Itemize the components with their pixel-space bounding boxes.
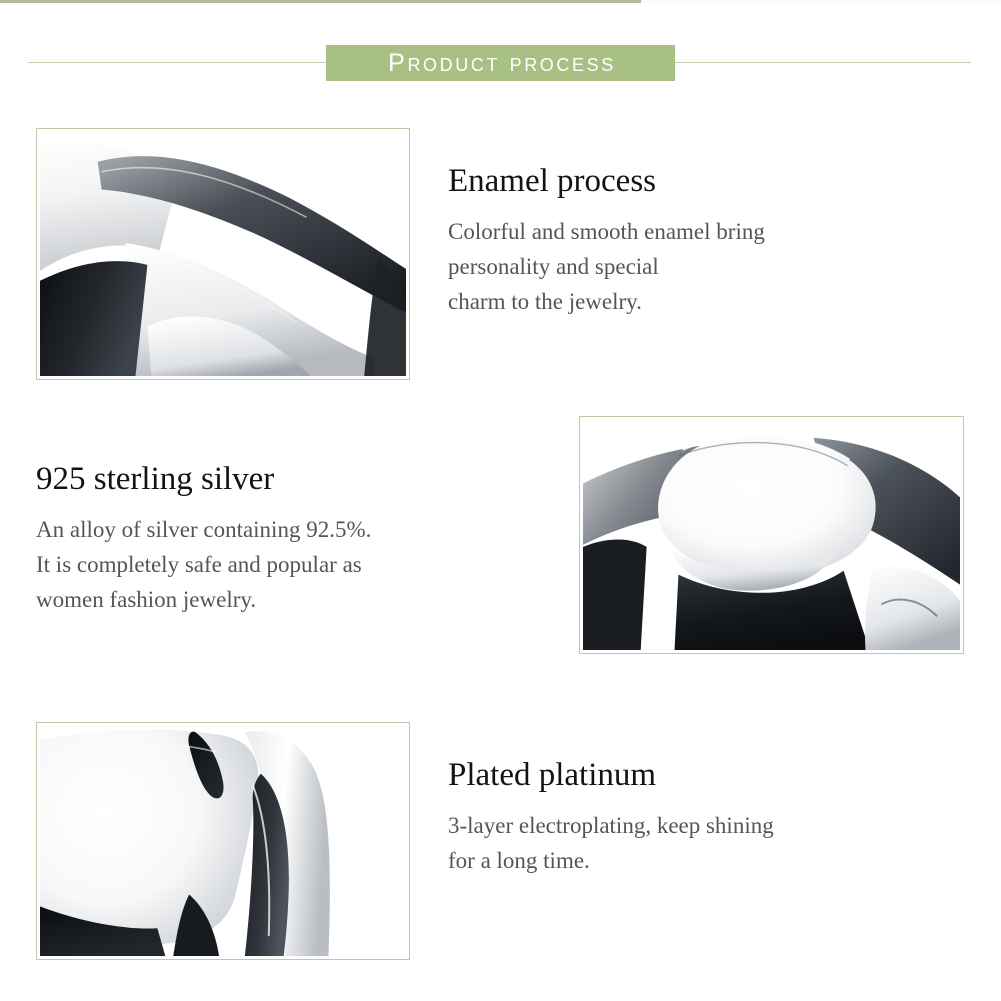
top-border-rule (0, 0, 641, 3)
plated-platinum-body: 3-layer electroplating, keep shining for… (448, 809, 774, 879)
feature-block-enamel-process: Enamel process Colorful and smooth ename… (0, 128, 1001, 390)
body-line: An alloy of silver containing 92.5%. (36, 513, 371, 548)
sterling-silver-text: 925 sterling silver An alloy of silver c… (36, 461, 371, 618)
body-line: women fashion jewelry. (36, 583, 371, 618)
header-rule-left (28, 62, 328, 63)
header-rule-right (673, 62, 971, 63)
sterling-silver-title: 925 sterling silver (36, 461, 371, 497)
enamel-process-body: Colorful and smooth enamel bring persona… (448, 215, 765, 320)
enamel-process-title: Enamel process (448, 163, 765, 199)
plated-platinum-photo (40, 726, 406, 956)
body-line: charm to the jewelry. (448, 285, 765, 320)
enamel-process-text: Enamel process Colorful and smooth ename… (448, 163, 765, 320)
body-line: personality and special (448, 250, 765, 285)
body-line: Colorful and smooth enamel bring (448, 215, 765, 250)
plated-platinum-photo-frame (36, 722, 410, 960)
body-line: It is completely safe and popular as (36, 548, 371, 583)
section-title-banner: Product process (326, 45, 675, 81)
feature-block-925-sterling-silver: 925 sterling silver An alloy of silver c… (0, 416, 1001, 654)
enamel-process-photo (40, 132, 406, 376)
enamel-process-photo-frame (36, 128, 410, 380)
plated-platinum-title: Plated platinum (448, 757, 774, 793)
feature-block-plated-platinum: Plated platinum 3-layer electroplating, … (0, 722, 1001, 960)
plated-platinum-text: Plated platinum 3-layer electroplating, … (448, 757, 774, 879)
body-line: 3-layer electroplating, keep shining (448, 809, 774, 844)
sterling-silver-photo (583, 420, 960, 650)
section-header: Product process (0, 45, 1001, 81)
top-border-rule-faded (641, 0, 1001, 3)
body-line: for a long time. (448, 844, 774, 879)
section-title-label: Product process (385, 51, 616, 76)
sterling-silver-photo-frame (579, 416, 964, 654)
sterling-silver-body: An alloy of silver containing 92.5%. It … (36, 513, 371, 618)
